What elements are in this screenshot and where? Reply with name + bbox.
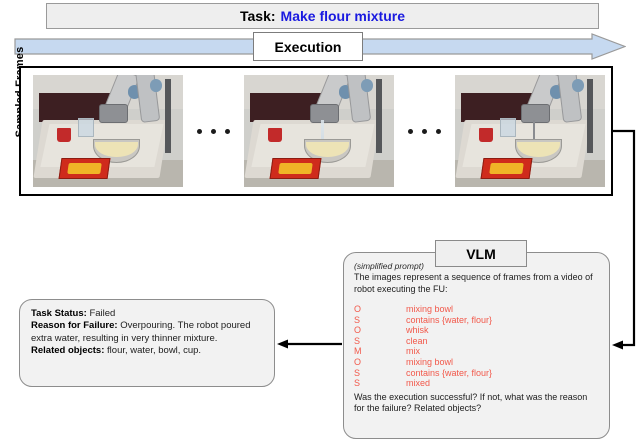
- related-objects-line: Related objects: flour, water, bowl, cup…: [31, 345, 263, 357]
- functional-unit-row: Scontains {water, flour}: [354, 315, 492, 326]
- execution-label: Execution: [253, 32, 363, 61]
- fu-key: O: [354, 325, 406, 336]
- task-status-value: Failed: [89, 308, 115, 319]
- task-status-label: Task Status:: [31, 308, 87, 319]
- fu-value: clean: [406, 336, 492, 347]
- vlm-result-box: Task Status: Failed Reason for Failure: …: [19, 299, 275, 387]
- task-value: Make flour mixture: [281, 8, 405, 24]
- task-status-line: Task Status: Failed: [31, 308, 263, 320]
- fu-key: S: [354, 378, 406, 389]
- functional-unit-row: Omixing bowl: [354, 357, 492, 368]
- frame-image-1: [33, 75, 183, 187]
- frames-ellipsis-1: [189, 129, 238, 134]
- fu-value: mixed: [406, 378, 492, 389]
- task-banner: Task: Make flour mixture: [46, 3, 599, 29]
- fu-key: O: [354, 304, 406, 315]
- related-objects-value: flour, water, bowl, cup.: [107, 345, 201, 356]
- functional-unit-rows: Omixing bowlScontains {water, flour}Owhi…: [354, 304, 492, 389]
- functional-unit-table: Omixing bowlScontains {water, flour}Owhi…: [354, 304, 492, 389]
- sampled-frames-strip: [19, 66, 613, 196]
- functional-unit-row: Owhisk: [354, 325, 492, 336]
- failure-reason-line: Reason for Failure: Overpouring. The rob…: [31, 320, 263, 345]
- fu-value: contains {water, flour}: [406, 315, 492, 326]
- fu-value: mix: [406, 346, 492, 357]
- functional-unit-row: Smixed: [354, 378, 492, 389]
- failure-reason-label: Reason for Failure:: [31, 320, 118, 331]
- fu-key: S: [354, 336, 406, 347]
- fu-value: contains {water, flour}: [406, 368, 492, 379]
- fu-key: S: [354, 368, 406, 379]
- frame-image-2: [244, 75, 394, 187]
- fu-value: mixing bowl: [406, 357, 492, 368]
- functional-unit-row: Mmix: [354, 346, 492, 357]
- vlm-label-text: VLM: [466, 246, 496, 262]
- prompt-intro: The images represent a sequence of frame…: [354, 272, 599, 295]
- fu-key: S: [354, 315, 406, 326]
- fu-key: M: [354, 346, 406, 357]
- related-objects-label: Related objects:: [31, 345, 104, 356]
- fu-value: whisk: [406, 325, 492, 336]
- fu-key: O: [354, 357, 406, 368]
- task-label: Task:: [240, 8, 276, 24]
- functional-unit-row: Omixing bowl: [354, 304, 492, 315]
- functional-unit-row: Sclean: [354, 336, 492, 347]
- frames-ellipsis-2: [400, 129, 449, 134]
- vlm-label: VLM: [435, 240, 527, 267]
- frame-image-3: [455, 75, 605, 187]
- execution-label-text: Execution: [275, 39, 342, 55]
- prompt-question: Was the execution successful? If not, wh…: [354, 392, 599, 415]
- fu-value: mixing bowl: [406, 304, 492, 315]
- vlm-prompt-box: (simplified prompt) The images represent…: [343, 252, 610, 439]
- functional-unit-row: Scontains {water, flour}: [354, 368, 492, 379]
